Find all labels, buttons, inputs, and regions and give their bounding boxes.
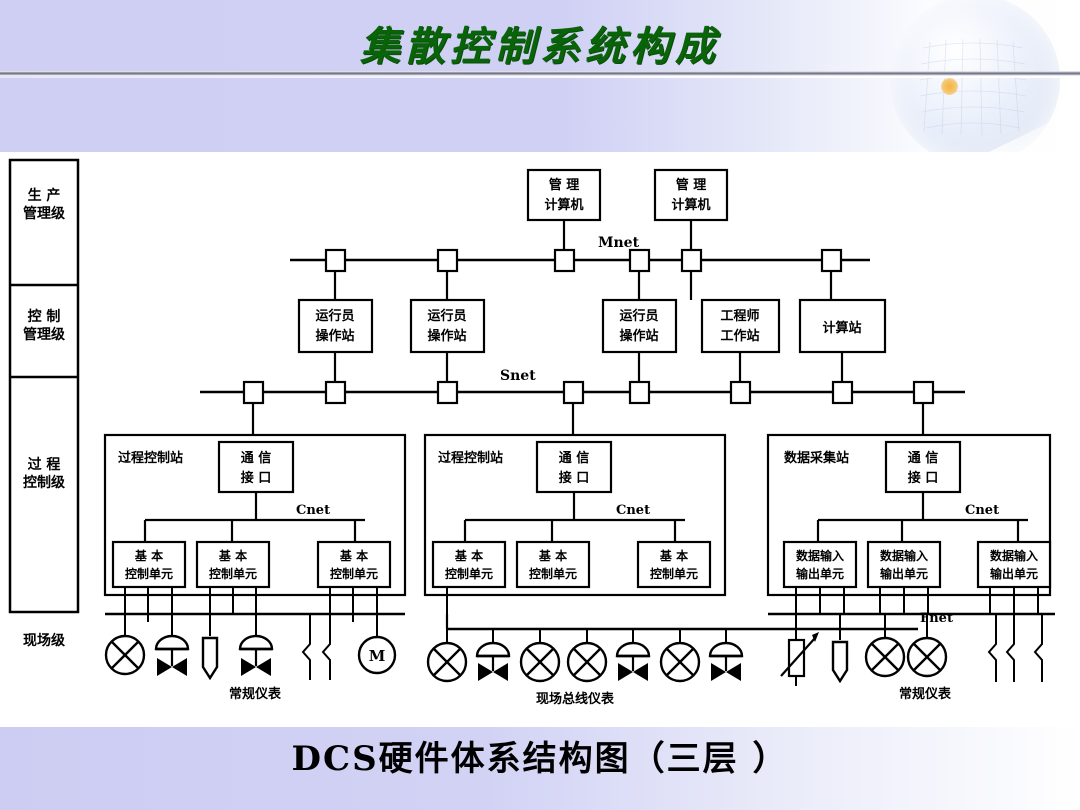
header-band: 集散控制系统构成	[0, 0, 1080, 152]
communication-interface[interactable]: 通 信 接 口	[219, 442, 293, 492]
level-label-line2: 管理级	[23, 326, 66, 343]
snet-node[interactable]	[438, 382, 457, 403]
unit-label-line1: 基 本	[659, 548, 688, 563]
cnet-bus-label: Cnet	[296, 503, 330, 518]
mnet-bus-label: Mnet	[598, 235, 640, 251]
basic-control-unit[interactable]: 基 本 控制单元	[517, 542, 589, 587]
dcs-architecture-diagram: 生 产 管理级 控 制 管理级 过 程 控制级 现场级 管 理 计算机 管 理 …	[0, 152, 1080, 727]
field-group-3: 常规仪表	[768, 614, 1055, 702]
process-control-station-panel-1[interactable]: 过程控制站 通 信 接 口 Cnet 基 本 控制单元 基 本 控制单元 基 本	[105, 435, 405, 622]
snet-segment: Snet	[200, 368, 965, 435]
diagram-svg: 生 产 管理级 控 制 管理级 过 程 控制级 现场级 管 理 计算机 管 理 …	[0, 152, 1080, 727]
control-valve-icon[interactable]	[617, 629, 649, 681]
box-label-line2: 工作站	[720, 328, 759, 344]
computing-station[interactable]: 计算站	[800, 300, 885, 381]
globe-highlight-dot	[941, 78, 958, 95]
sensor-circle-x-icon[interactable]	[568, 629, 606, 681]
sensor-circle-x-icon[interactable]	[521, 629, 559, 681]
unit-label-line2: 控制单元	[529, 566, 577, 581]
operator-station-3[interactable]: 运行员 操作站	[603, 300, 676, 381]
level-label-line1: 过 程	[28, 456, 61, 473]
mnet-node[interactable]	[555, 250, 574, 271]
snet-bus-label: Snet	[500, 368, 536, 384]
figure-caption: DCS硬件体系结构图（三层 ）	[0, 731, 1080, 780]
unit-label-line1: 基 本	[339, 548, 368, 563]
snet-node[interactable]	[244, 382, 263, 403]
management-computer-box-1[interactable]: 管 理 计算机	[528, 170, 600, 253]
page-title: 集散控制系统构成	[0, 14, 1080, 72]
interface-label-line2: 接 口	[908, 470, 939, 486]
level-label-line1: 控 制	[28, 308, 61, 325]
sensor-circle-x-icon[interactable]	[661, 629, 699, 681]
field-group-1: M 常规仪表	[105, 614, 405, 702]
unit-label-line2: 控制单元	[445, 566, 493, 581]
sidebar-item-field-level: 现场级	[23, 632, 66, 649]
field-group-label-2: 现场总线仪表	[536, 691, 615, 707]
unit-label-line2: 输出单元	[990, 566, 1038, 581]
sensor-circle-x-icon[interactable]	[866, 614, 904, 676]
motor-icon[interactable]: M	[359, 614, 395, 673]
data-io-unit[interactable]: 数据输入 输出单元	[978, 542, 1050, 587]
control-valve-icon[interactable]	[240, 614, 272, 676]
communication-interface[interactable]: 通 信 接 口	[886, 442, 960, 492]
management-computer-box-2[interactable]: 管 理 计算机	[655, 170, 727, 253]
box-label-line2: 操作站	[619, 328, 658, 344]
cnet-bus-label: Cnet	[616, 503, 650, 518]
snet-node[interactable]	[564, 382, 583, 403]
snet-node[interactable]	[630, 382, 649, 403]
box-label-line2: 计算机	[671, 197, 710, 213]
box-label-line1: 运行员	[315, 308, 354, 324]
unit-label-line1: 数据输入	[990, 548, 1038, 563]
sensor-circle-x-icon[interactable]	[106, 614, 144, 674]
mnet-node[interactable]	[630, 250, 649, 271]
mnet-node[interactable]	[438, 250, 457, 271]
unit-label-line1: 基 本	[538, 548, 567, 563]
interface-label-line2: 接 口	[241, 470, 272, 486]
snet-node[interactable]	[833, 382, 852, 403]
basic-control-unit[interactable]: 基 本 控制单元	[113, 542, 185, 587]
sensor-circle-x-icon[interactable]	[428, 629, 466, 681]
header-divider-rule-shadow	[0, 76, 1080, 78]
station-row: 运行员 操作站 运行员 操作站 运行员 操作站 工程师 工作站 计算站	[299, 300, 885, 381]
operator-station-1[interactable]: 运行员 操作站	[299, 300, 372, 381]
box-label-line1: 运行员	[427, 308, 466, 324]
process-control-station-panel-2[interactable]: 过程控制站 通 信 接 口 Cnet 基 本 控制单元 基 本 控制单元 基 本…	[425, 435, 725, 614]
panel-title: 过程控制站	[438, 450, 503, 466]
interface-label-line1: 通 信	[559, 450, 590, 466]
mnet-node[interactable]	[682, 250, 701, 271]
unit-label-line2: 控制单元	[330, 566, 378, 581]
operator-station-2[interactable]: 运行员 操作站	[411, 300, 484, 381]
motor-label: M	[369, 647, 386, 665]
basic-control-unit[interactable]: 基 本 控制单元	[433, 542, 505, 587]
break-lines-icon	[303, 614, 330, 680]
box-label-line1: 运行员	[619, 308, 658, 324]
break-lines-icon	[989, 614, 1042, 682]
data-io-unit[interactable]: 数据输入 输出单元	[784, 542, 856, 587]
level-label-line2: 管理级	[23, 205, 66, 222]
unit-label-line2: 输出单元	[796, 566, 844, 581]
basic-control-unit[interactable]: 基 本 控制单元	[197, 542, 269, 587]
transducer-arrow-icon[interactable]	[781, 614, 819, 686]
box-label-line2: 操作站	[315, 328, 354, 344]
data-acquisition-station-panel[interactable]: 数据采集站 通 信 接 口 Cnet 数据输入 输出单元 数据输入 输出单元 数…	[768, 435, 1050, 614]
data-io-unit[interactable]: 数据输入 输出单元	[868, 542, 940, 587]
control-valve-icon[interactable]	[156, 614, 188, 676]
level-sidebar: 生 产 管理级 控 制 管理级 过 程 控制级 现场级	[10, 160, 78, 649]
unit-label-line1: 基 本	[454, 548, 483, 563]
interface-label-line1: 通 信	[241, 450, 272, 466]
box-label-line2: 操作站	[427, 328, 466, 344]
panel-title: 数据采集站	[784, 450, 849, 466]
mnet-node[interactable]	[326, 250, 345, 271]
thermowell-icon[interactable]	[833, 614, 847, 681]
field-device-area: M 常规仪表 Fnet	[105, 611, 1055, 707]
box-label-line1: 工程师	[720, 308, 759, 324]
snet-node[interactable]	[731, 382, 750, 403]
communication-interface[interactable]: 通 信 接 口	[537, 442, 611, 492]
unit-label-line2: 控制单元	[650, 566, 698, 581]
control-valve-icon[interactable]	[710, 629, 742, 681]
snet-node[interactable]	[326, 382, 345, 403]
box-label-line1: 管 理	[549, 177, 580, 193]
basic-control-unit[interactable]: 基 本 控制单元	[638, 542, 710, 587]
field-group-label-1: 常规仪表	[229, 686, 282, 702]
box-label-line1: 管 理	[676, 177, 707, 193]
mnet-segment: 管 理 计算机 管 理 计算机 Mnet	[290, 170, 870, 300]
interface-label-line1: 通 信	[908, 450, 939, 466]
panel-title: 过程控制站	[118, 450, 183, 466]
basic-control-unit[interactable]: 基 本 控制单元	[318, 542, 390, 587]
unit-label-line1: 基 本	[134, 548, 163, 563]
unit-label-line1: 数据输入	[880, 548, 928, 563]
box-label-line2: 计算机	[544, 197, 583, 213]
unit-label-line2: 输出单元	[880, 566, 928, 581]
unit-label-line1: 基 本	[218, 548, 247, 563]
cnet-bus-label: Cnet	[965, 503, 999, 518]
mnet-node[interactable]	[822, 250, 841, 271]
box-label-line1: 计算站	[822, 320, 861, 336]
engineer-workstation[interactable]: 工程师 工作站	[702, 300, 779, 381]
unit-label-line2: 控制单元	[209, 566, 257, 581]
thermowell-icon[interactable]	[203, 614, 217, 678]
unit-label-line2: 控制单元	[125, 566, 173, 581]
level-label-line2: 控制级	[23, 474, 66, 491]
field-group-label-3: 常规仪表	[899, 686, 952, 702]
level-label-line1: 生 产	[28, 187, 61, 204]
snet-node[interactable]	[914, 382, 933, 403]
unit-label-line1: 数据输入	[796, 548, 844, 563]
interface-label-line2: 接 口	[559, 470, 590, 486]
control-valve-icon[interactable]	[477, 629, 509, 681]
